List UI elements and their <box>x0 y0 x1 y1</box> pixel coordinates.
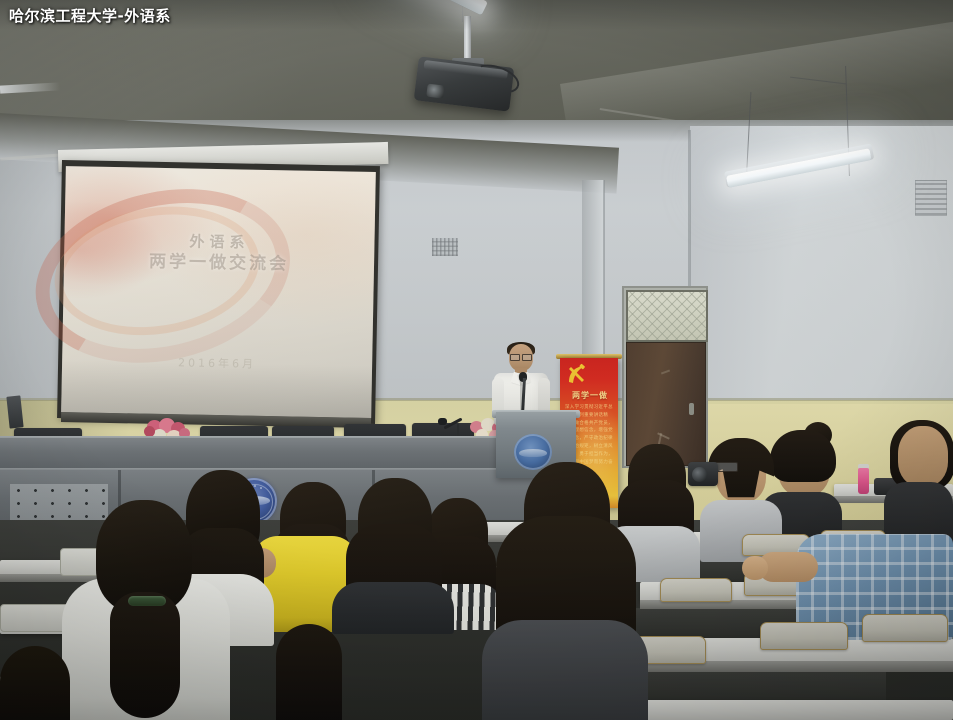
student-head <box>898 426 948 486</box>
banner-title: 两学一做 <box>564 390 616 401</box>
classroom-door[interactable] <box>622 286 708 468</box>
student-head-edge <box>276 624 342 720</box>
eyeglasses-icon <box>522 354 532 361</box>
student-chair <box>862 614 948 642</box>
projector-mount-pole <box>464 16 471 62</box>
wall-vent-icon <box>915 180 947 216</box>
student-foreground-center <box>482 462 648 720</box>
projector-lens <box>426 84 444 99</box>
student-body <box>332 582 454 634</box>
door-scuff <box>661 370 670 375</box>
screen-surface: 外语系 两学一做交流会 2016年6月 <box>61 166 376 418</box>
screen-shading <box>61 360 372 418</box>
wall-vent-icon <box>432 238 458 256</box>
slide-text: 外语系 两学一做交流会 <box>64 230 375 277</box>
stage-table <box>0 438 540 472</box>
microphone-head <box>438 418 447 425</box>
emblem-ship <box>519 449 547 457</box>
eyeglasses-icon <box>510 354 520 361</box>
hammer-and-sickle-emblem <box>565 363 591 387</box>
student-hand <box>742 556 768 580</box>
door-handle[interactable] <box>689 403 694 415</box>
student-foreground-white-shirt <box>56 500 236 720</box>
hair-tie <box>128 596 166 606</box>
student-head-edge <box>0 646 70 720</box>
student-ponytail <box>110 592 180 718</box>
pink-water-bottle <box>858 468 869 494</box>
student-chair <box>760 622 848 650</box>
projection-screen: 外语系 两学一做交流会 2016年6月 <box>57 160 380 424</box>
student-seated <box>328 478 454 628</box>
student-chair <box>660 578 732 602</box>
caption-text: 哈尔滨工程大学-外语系 <box>9 5 171 26</box>
student-body <box>482 620 648 720</box>
photo-canvas: 外语系 两学一做交流会 2016年6月 两学一做 深入学习贯彻习近平总书记系列重… <box>0 0 953 720</box>
door-transom-window <box>626 290 708 342</box>
